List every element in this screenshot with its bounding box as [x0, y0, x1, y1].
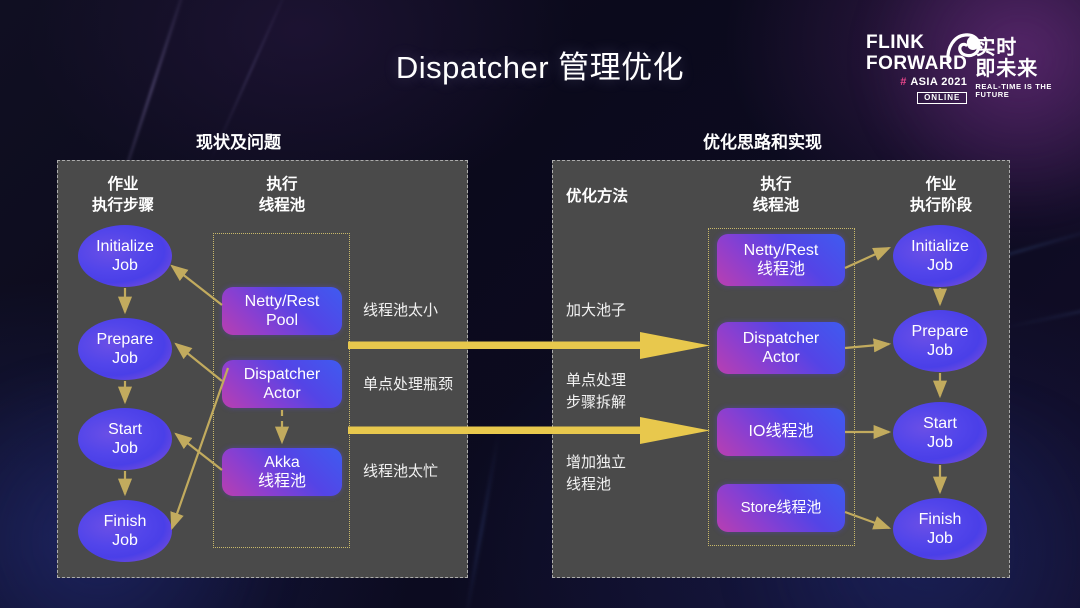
- left-stage-prepare-job[interactable]: Prepare Job: [78, 318, 172, 380]
- right-col-head-pool: 执行 线程池: [721, 175, 831, 217]
- right-stage-finish-job[interactable]: Finish Job: [893, 498, 987, 560]
- flink-forward-logo: FLINK FORWARD # ASIA 2021 ONLINE 实时 即未来 …: [866, 32, 1056, 104]
- right-head-optimization-method: 优化方法: [566, 187, 676, 208]
- left-stage-finish-job[interactable]: Finish Job: [78, 500, 172, 562]
- logo-cn-line1: 实时: [975, 38, 1056, 59]
- left-stage-initialize-job[interactable]: Initialize Job: [78, 225, 172, 287]
- right-stage-start-job[interactable]: Start Job: [893, 402, 987, 464]
- left-col-head-pool: 执行 线程池: [228, 175, 336, 217]
- problem-label-single-point-bottleneck: 单点处理瓶颈: [363, 374, 453, 396]
- logo-event-name: ASIA 2021: [910, 77, 967, 88]
- left-pool-netty-rest[interactable]: Netty/Rest Pool: [222, 287, 342, 335]
- left-stage-start-job[interactable]: Start Job: [78, 408, 172, 470]
- logo-wordmark: FLINK FORWARD # ASIA 2021 ONLINE: [866, 33, 967, 104]
- logo-online-badge: ONLINE: [917, 92, 967, 104]
- right-stage-prepare-job[interactable]: Prepare Job: [893, 310, 987, 372]
- squirrel-icon: [942, 30, 982, 64]
- right-col-head-jobs: 作业 执行阶段: [886, 175, 996, 217]
- logo-tagline: REAL-TIME IS THE FUTURE: [975, 83, 1056, 99]
- right-pool-io[interactable]: IO线程池: [717, 408, 845, 456]
- right-pool-netty-rest[interactable]: Netty/Rest 线程池: [717, 234, 845, 286]
- left-col-head-jobs: 作业 执行步骤: [73, 175, 173, 217]
- right-pool-store[interactable]: Store线程池: [717, 484, 845, 532]
- section-caption-left: 现状及问题: [196, 128, 281, 153]
- method-label-enlarge-pool: 加大池子: [566, 300, 626, 322]
- logo-cn-line2: 即未来: [975, 59, 1056, 80]
- logo-online-wrap: ONLINE: [866, 88, 967, 104]
- background-streak: [1003, 273, 1080, 329]
- right-pool-dispatcher-actor[interactable]: Dispatcher Actor: [717, 322, 845, 374]
- logo-event-meta: # ASIA 2021: [866, 77, 967, 88]
- method-label-split-steps: 单点处理 步骤拆解: [566, 370, 626, 414]
- problem-label-pool-too-busy: 线程池太忙: [363, 461, 438, 483]
- logo-chinese-slogan: 实时 即未来 REAL-TIME IS THE FUTURE: [975, 38, 1056, 99]
- problem-label-pool-too-small: 线程池太小: [363, 300, 438, 322]
- right-stage-initialize-job[interactable]: Initialize Job: [893, 225, 987, 287]
- section-caption-right: 优化思路和实现: [703, 128, 822, 153]
- left-pool-dispatcher-actor[interactable]: Dispatcher Actor: [222, 360, 342, 408]
- left-pool-akka[interactable]: Akka 线程池: [222, 448, 342, 496]
- background-streak: [463, 431, 501, 608]
- slide-canvas: Dispatcher 管理优化 FLINK FORWARD # ASIA 202…: [0, 0, 1080, 608]
- hash-icon: #: [900, 77, 906, 88]
- method-label-independent-pool: 增加独立 线程池: [566, 452, 626, 496]
